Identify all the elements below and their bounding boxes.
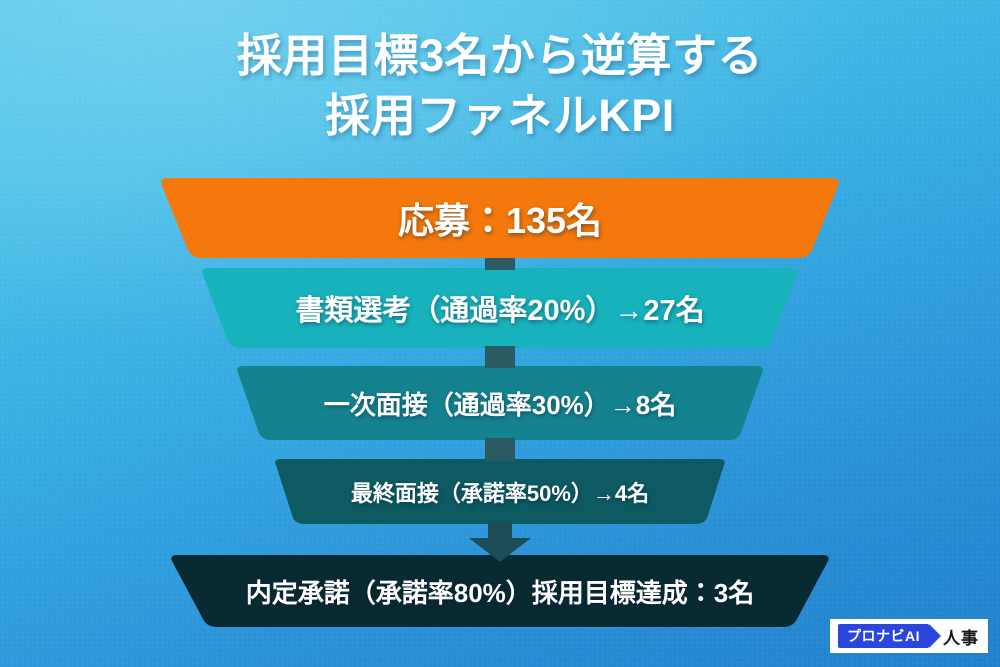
funnel-stage-4-label: 最終面接（承諾率50%）→4名 bbox=[351, 476, 649, 508]
title-line-1: 採用目標3名から逆算する bbox=[0, 26, 1000, 86]
funnel-stage-3: 一次面接（通過率30%）→8名 bbox=[0, 366, 1000, 440]
funnel-connector-2 bbox=[485, 346, 515, 368]
funnel-stage-2: 書類選考（通過率20%）→27名 bbox=[0, 268, 1000, 348]
funnel-stage-4: 最終面接（承諾率50%）→4名 bbox=[0, 459, 1000, 524]
page-title: 採用目標3名から逆算する 採用ファネルKPI bbox=[0, 26, 1000, 147]
funnel-stage-2-label: 書類選考（通過率20%）→27名 bbox=[295, 287, 704, 329]
funnel-stage-1-label: 応募：135名 bbox=[398, 192, 602, 244]
logo-suffix: 人事 bbox=[943, 624, 979, 649]
funnel-stage-5: 内定承諾（承諾率80%）採用目標達成：3名 bbox=[0, 555, 1000, 627]
funnel-infographic: 採用目標3名から逆算する 採用ファネルKPI 応募：135名 bbox=[0, 0, 1000, 667]
funnel-connector-1 bbox=[485, 258, 515, 270]
funnel-stage-5-label: 内定承諾（承諾率80%）採用目標達成：3名 bbox=[246, 573, 755, 610]
funnel-stage-3-label: 一次面接（通過率30%）→8名 bbox=[324, 385, 677, 422]
funnel-stage-1: 応募：135名 bbox=[0, 178, 1000, 258]
title-line-2: 採用ファネルKPI bbox=[0, 86, 1000, 146]
logo-brand: プロナビAI bbox=[838, 624, 929, 648]
logo-badge: プロナビAI 人事 bbox=[830, 619, 988, 653]
funnel-connector-3 bbox=[485, 438, 515, 461]
funnel-arrow-icon bbox=[455, 522, 545, 562]
